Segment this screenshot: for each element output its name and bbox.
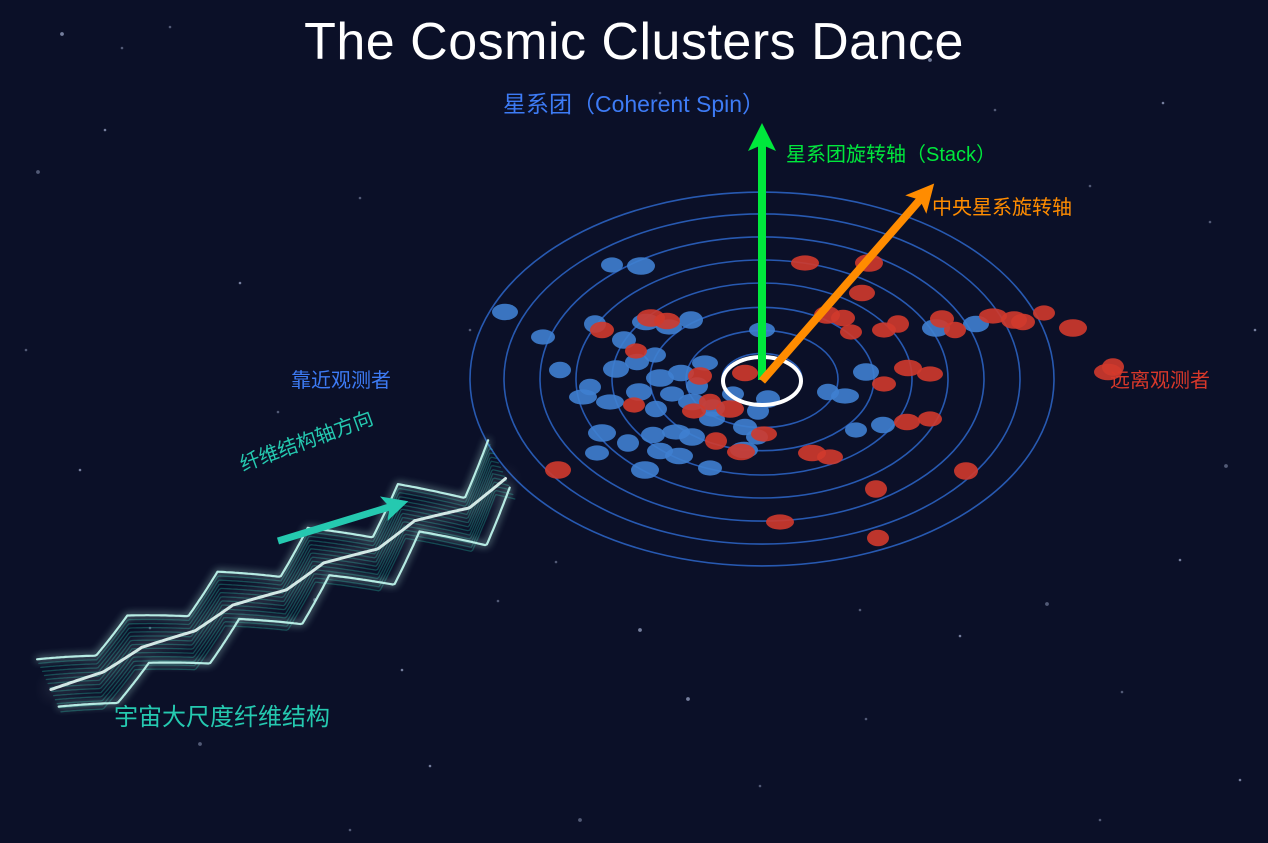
star <box>1224 464 1228 468</box>
galaxy-red-receding <box>766 514 794 529</box>
label-cosmic-filament: 宇宙大尺度纤维结构 <box>114 697 330 732</box>
star <box>1099 819 1102 822</box>
galaxy-blue-approaching <box>831 388 859 403</box>
galaxy-red-receding <box>590 322 614 338</box>
star <box>349 829 352 832</box>
galaxy-red-receding <box>1059 319 1087 337</box>
galaxy-blue-approaching <box>631 461 659 479</box>
galaxy-blue-approaching <box>627 257 655 275</box>
star <box>759 785 762 788</box>
star <box>859 609 862 612</box>
galaxy-blue-approaching <box>698 460 722 475</box>
star <box>359 197 362 200</box>
star <box>686 697 690 701</box>
star <box>469 329 472 332</box>
label-receding-observer: 远离观测者 <box>1110 364 1210 393</box>
galaxy-red-receding <box>840 324 862 339</box>
galaxy-red-receding <box>944 322 966 338</box>
star <box>104 129 107 132</box>
galaxy-red-receding <box>705 432 727 450</box>
galaxy-blue-approaching <box>853 363 879 381</box>
galaxy-blue-approaching <box>549 362 571 378</box>
star <box>1089 185 1092 188</box>
star <box>1209 221 1212 224</box>
galaxy-blue-approaching <box>665 448 693 464</box>
galaxy-red-receding <box>1011 314 1035 330</box>
star <box>25 349 28 352</box>
galaxy-blue-approaching <box>531 329 555 344</box>
galaxy-blue-approaching <box>585 445 609 460</box>
galaxy-red-receding <box>727 444 755 460</box>
star <box>638 628 642 632</box>
galaxy-red-receding <box>623 397 645 412</box>
star <box>79 469 82 472</box>
galaxy-red-receding <box>1033 305 1055 320</box>
galaxy-red-receding <box>791 255 819 270</box>
galaxy-red-receding <box>831 310 855 326</box>
galaxy-blue-approaching <box>569 389 597 404</box>
galaxy-red-receding <box>688 367 712 385</box>
label-cluster-spin-axis: 星系团旋转轴（Stack） <box>786 138 996 167</box>
galaxy-blue-approaching <box>679 311 703 329</box>
star <box>959 635 962 638</box>
galaxy-red-receding <box>751 426 777 441</box>
galaxy-red-receding <box>894 414 920 430</box>
galaxy-red-receding <box>625 343 647 358</box>
star <box>429 765 432 768</box>
star <box>36 170 40 174</box>
star <box>578 818 582 822</box>
galaxy-red-receding <box>654 313 680 329</box>
cosmic-clusters-diagram: The Cosmic Clusters Dance 星系团（Coherent S… <box>0 0 1268 843</box>
galaxy-blue-approaching <box>601 257 623 272</box>
galaxy-blue-approaching <box>588 424 616 442</box>
galaxy-red-receding <box>887 315 909 333</box>
star <box>198 742 202 746</box>
label-central-galaxy-spin-axis: 中央星系旋转轴 <box>932 191 1072 220</box>
galaxy-blue-approaching <box>492 304 518 320</box>
galaxy-blue-approaching <box>679 428 705 446</box>
galaxy-red-receding <box>545 461 571 479</box>
galaxy-blue-approaching <box>617 434 639 452</box>
galaxy-blue-approaching <box>644 347 666 362</box>
star <box>1239 779 1242 782</box>
galaxy-blue-approaching <box>845 422 867 437</box>
galaxy-blue-approaching <box>645 401 667 417</box>
label-approaching-observer: 靠近观测者 <box>291 364 391 393</box>
galaxy-red-receding <box>865 480 887 498</box>
page-subtitle: 星系团（Coherent Spin） <box>0 85 1268 119</box>
galaxy-red-receding <box>732 365 758 381</box>
star <box>239 282 242 285</box>
star <box>277 411 280 414</box>
galaxy-red-receding <box>918 411 942 426</box>
star <box>1121 691 1124 694</box>
galaxy-blue-approaching <box>596 394 624 409</box>
star <box>1179 559 1182 562</box>
galaxy-red-receding <box>867 530 889 546</box>
star <box>1254 329 1257 332</box>
galaxy-red-receding <box>872 376 896 391</box>
star <box>865 718 868 721</box>
star <box>497 600 500 603</box>
star <box>1045 602 1049 606</box>
galaxy-red-receding <box>849 285 875 301</box>
page-title: The Cosmic Clusters Dance <box>0 12 1268 72</box>
galaxy-red-receding <box>954 462 978 480</box>
galaxy-red-receding <box>817 449 843 464</box>
galaxy-blue-approaching <box>871 417 895 433</box>
star <box>555 561 558 564</box>
galaxy-red-receding <box>917 366 943 381</box>
star <box>401 669 404 672</box>
galaxy-blue-approaching <box>641 427 665 443</box>
